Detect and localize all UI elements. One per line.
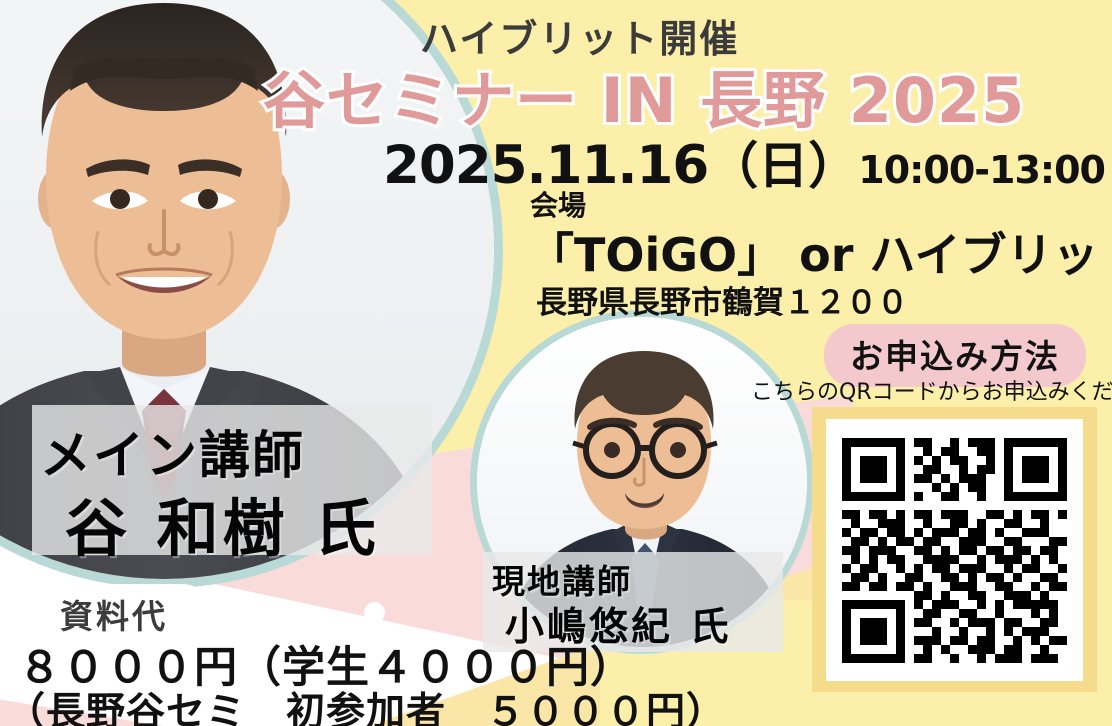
seminar-poster: ハイブリット開催 谷セミナー IN 長野 2025 2025.11.16 （日）… [0,0,1112,726]
qr-panel [812,407,1097,692]
decor-dot [364,602,385,623]
event-time: 10:00-13:00 [858,148,1105,192]
fee-sub-text: （長野谷セミ 初参加者 ５０００円） [6,681,726,726]
main-speaker-role: メイン講師 [40,414,305,488]
event-datetime: 2025.11.16 （日） 10:00-13:00 [383,126,1105,198]
venue-address: 長野県長野市鶴賀１２００ [536,277,908,322]
event-day-of-week: （日） [708,126,858,198]
qr-code[interactable] [842,438,1067,663]
qr-inner [826,419,1083,681]
venue-label: 会場 [530,184,586,224]
main-speaker-name: 谷 和樹 氏 [65,478,380,568]
venue-name: 「TOiGO」 or ハイブリット [528,219,1112,285]
apply-method-note: こちらのQRコードからお申込みください。 [751,374,1112,406]
decor-dot [292,604,313,625]
decor-dot [220,603,240,623]
